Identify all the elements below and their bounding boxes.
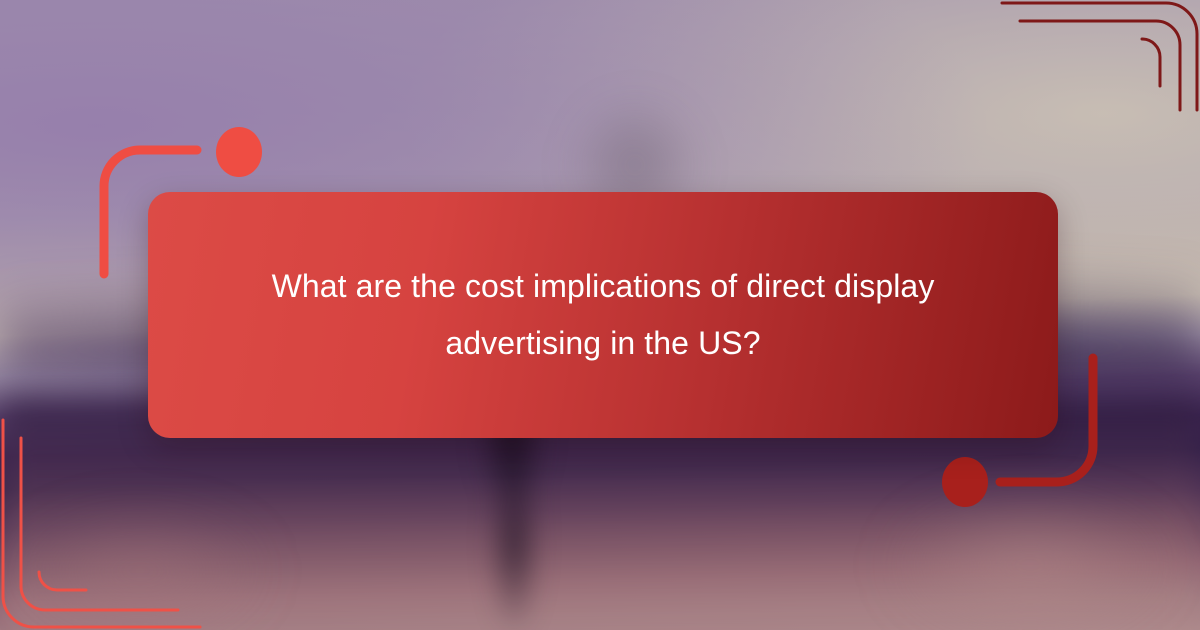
dot-top-left bbox=[216, 127, 262, 177]
headline-card: What are the cost implications of direct… bbox=[148, 192, 1058, 438]
page-title: What are the cost implications of direct… bbox=[233, 258, 973, 372]
dot-bottom-right bbox=[942, 457, 988, 507]
corner-lines-top-right bbox=[990, 0, 1200, 110]
corner-lines-bottom-left bbox=[0, 420, 210, 630]
background-glow-right bbox=[830, 470, 1200, 630]
social-card-canvas: What are the cost implications of direct… bbox=[0, 0, 1200, 630]
